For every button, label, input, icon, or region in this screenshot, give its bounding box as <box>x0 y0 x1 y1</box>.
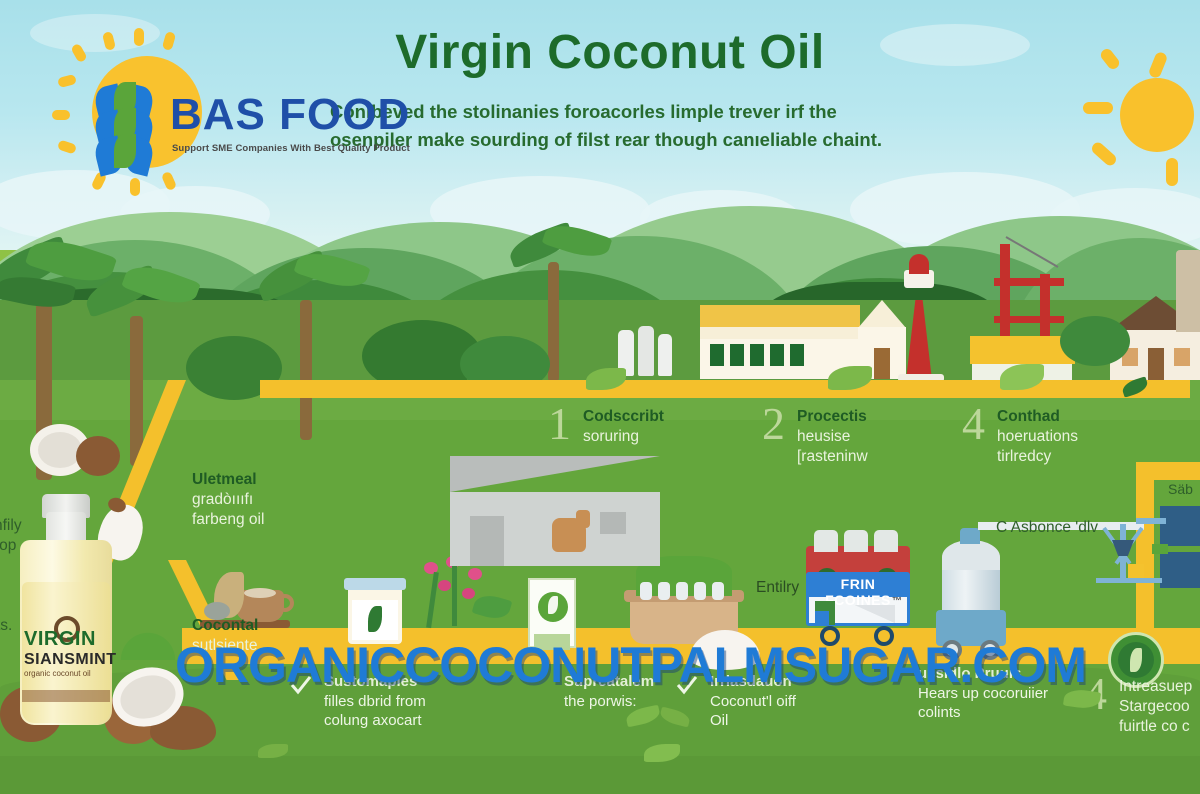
label-oil-line3: farbeng oil <box>192 511 264 528</box>
step-4-line3: tirlredcy <box>997 448 1051 465</box>
flower-petal <box>462 588 475 599</box>
machine-box <box>1128 564 1144 578</box>
factory-gable <box>858 300 906 328</box>
step-2-number: 2 <box>762 402 785 446</box>
basket-veg <box>676 582 688 600</box>
bottle-label-line2: SIANSMINT <box>24 651 108 669</box>
truck-sign-graph <box>855 605 895 623</box>
check-item-1-line3: colung axocart <box>324 712 422 729</box>
truck-barrel <box>874 530 898 552</box>
sun-icon <box>1120 78 1194 152</box>
red-tower-dome <box>909 254 929 274</box>
truck-barrel <box>814 530 838 552</box>
truck-barrel <box>844 530 868 552</box>
label-left-edge-1-line2: rop <box>0 536 22 556</box>
truck-sign-swatch <box>815 611 829 625</box>
crane-arm <box>994 278 1064 286</box>
check-item-4-line3: colints <box>918 704 961 721</box>
factory-window <box>790 344 804 366</box>
label-left-edge-2: ts. <box>0 616 12 636</box>
silo <box>1176 250 1200 332</box>
label-asbonce: C Asbonce 'dlv <box>996 518 1098 538</box>
step-4-text: Conthad hoeruations tirlredcy <box>997 402 1078 466</box>
step-4-bottom: 4 Intreasuep Stargecoo fuirtle co c <box>1084 672 1192 736</box>
check-item-1-line2: filles dbrid from <box>324 693 426 710</box>
label-right-machine-title: Säb <box>1168 481 1193 497</box>
truck-sign-board: FRIN FCOINES ™ <box>806 572 910 626</box>
step-1-title: Codsccribt <box>583 407 664 427</box>
step-4-bottom-line3: fuirtle co c <box>1119 718 1190 735</box>
logo-sun-ray <box>130 178 140 196</box>
basket-veg <box>640 582 652 600</box>
factory-door <box>874 348 890 379</box>
page-title: Virgin Coconut Oil <box>340 28 880 78</box>
factory-window <box>750 344 764 366</box>
bottle-label-line1: VIRGIN <box>24 628 108 651</box>
logo-sun-ray <box>134 28 144 46</box>
label-asbonce-title: C Asbonce 'dlv <box>996 519 1098 536</box>
label-left-edge-1-title: nfily <box>0 516 22 536</box>
basket-veg <box>658 582 670 600</box>
basket-veg <box>712 582 724 600</box>
machine-panel-2 <box>1160 552 1200 588</box>
step-4-bottom-text: Intreasuep Stargecoo fuirtle co c <box>1119 672 1192 736</box>
coconut-top-inner <box>38 432 82 468</box>
page-subtitle: Conlbeved the stolinanies foroacorles li… <box>330 98 890 154</box>
factory-window <box>710 344 724 366</box>
machine-connector <box>1152 544 1168 554</box>
tank-neck <box>960 528 980 544</box>
step-4-line2: hoeruations <box>997 428 1078 445</box>
label-entilry: Entilry <box>756 578 799 598</box>
step-2-title: Procectis <box>797 407 868 427</box>
step-4-top: 4 Conthad hoeruations tirlredcy <box>962 402 1078 466</box>
factory-building <box>700 305 860 327</box>
house-door <box>1148 348 1164 380</box>
basket-veg <box>694 582 706 600</box>
factory-building <box>700 327 860 339</box>
barn-roof <box>450 456 660 492</box>
machine-panel-1 <box>1160 506 1200 546</box>
logo-tagline: Support SME Companies With Best Quality … <box>172 143 410 154</box>
step-2: 2 Procectis heusise [rasteninw <box>762 402 868 466</box>
horse-head-icon <box>576 510 590 528</box>
flower-petal <box>438 580 451 591</box>
label-oil: Uletmeal gradòıııfı farbeng oil <box>192 470 312 530</box>
grass-tuft <box>118 600 178 660</box>
flower-stem <box>452 566 457 626</box>
logo-sun-ray <box>52 110 70 120</box>
barn-door <box>470 516 504 566</box>
step-4-bottom-line2: Stargecoo <box>1119 698 1190 715</box>
label-oil-line2: gradòıııfı <box>192 491 253 508</box>
subtitle-line-1: Conlbeved the stolinanies foroacorles li… <box>330 98 890 126</box>
crane-arm <box>994 316 1064 323</box>
step-2-text: Procectis heusise [rasteninw <box>797 402 868 466</box>
label-oil-title: Uletmeal <box>192 470 312 490</box>
bottle-label-band <box>22 690 110 702</box>
machine-base <box>1096 578 1162 583</box>
step-1-text: Codsccribt soruring <box>583 402 664 447</box>
machine-arm <box>1136 518 1166 524</box>
bush <box>1060 316 1130 366</box>
sun-ray <box>1166 158 1178 186</box>
step-2-line3: [rasteninw <box>797 448 868 465</box>
factory-window <box>770 344 784 366</box>
ground-bottom-strip <box>0 756 1200 794</box>
logo-brand-text: BAS FOOD <box>170 90 410 140</box>
jar-lid <box>344 578 406 590</box>
step-2-line2: heusise <box>797 428 850 445</box>
flower-petal <box>468 568 482 580</box>
step-4-number: 4 <box>962 402 985 446</box>
check-item-2-line2: the porwis: <box>564 693 637 710</box>
label-left-edge-1: nfily rop <box>0 516 22 556</box>
barn-window <box>600 512 626 534</box>
path-segment-top <box>260 380 1190 398</box>
coconut-shell <box>76 436 120 476</box>
pot-handle-icon <box>276 594 294 612</box>
bottle-label-line3: organic coconut oil <box>24 669 108 678</box>
storage-tank <box>658 334 672 376</box>
step-1-line2: soruring <box>583 428 639 445</box>
tank-dome <box>942 540 1000 574</box>
palm-trunk <box>300 300 312 440</box>
subtitle-line-2: osenpiler make sourding of filst rear th… <box>330 126 890 154</box>
step-1: 1 Codsccribt soruring <box>548 402 664 447</box>
logo-leaf-center <box>114 134 136 168</box>
truck-sign-tm: ™ <box>892 596 902 607</box>
storage-tank <box>638 326 654 376</box>
pot-contents <box>244 588 276 598</box>
factory-window <box>730 344 744 366</box>
label-entilry-title: Entilry <box>756 579 799 596</box>
cloud-7 <box>880 24 1030 66</box>
label-coconut-title: Cocontal <box>192 616 312 636</box>
site-watermark: ORGANICCOCONUTPALMSUGAR.COM <box>175 636 1055 694</box>
step-1-number: 1 <box>548 402 571 446</box>
step-4-title: Conthad <box>997 407 1078 427</box>
check-item-3-line2: Coconut'l oiff <box>710 693 796 710</box>
path-segment-right-top <box>1136 462 1200 480</box>
label-right-machine: Säb <box>1168 480 1193 498</box>
step-4-bottom-title: Intreasuep <box>1119 678 1192 695</box>
house-window <box>1174 348 1190 366</box>
infographic-canvas: VIRGIN SIANSMINT organic coconut oil <box>0 0 1200 794</box>
label-left-edge-2-title: ts. <box>0 617 12 634</box>
sun-ray <box>1083 102 1113 114</box>
check-item-3-line3: Oil <box>710 712 728 729</box>
